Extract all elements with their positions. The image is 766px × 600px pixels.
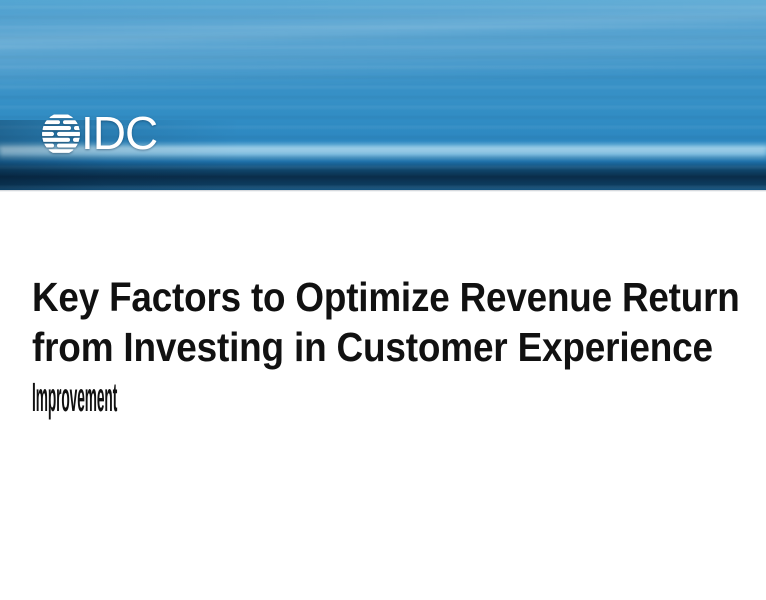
slide-title: Key Factors to Optimize Revenue Return f… (32, 272, 748, 422)
slide-canvas: IDC Key Factors to Optimize Revenue Retu… (0, 0, 766, 600)
title-line-1: Key Factors to Optimize Revenue Return (32, 272, 675, 322)
banner-divider (0, 190, 766, 192)
idc-logo: IDC (40, 109, 157, 159)
title-line-3: Improvement (32, 372, 271, 422)
title-line-2: from Investing in Customer Experience (32, 322, 677, 372)
idc-wordmark: IDC (81, 110, 157, 156)
idc-globe-icon (40, 112, 82, 156)
header-banner: IDC (0, 0, 766, 190)
